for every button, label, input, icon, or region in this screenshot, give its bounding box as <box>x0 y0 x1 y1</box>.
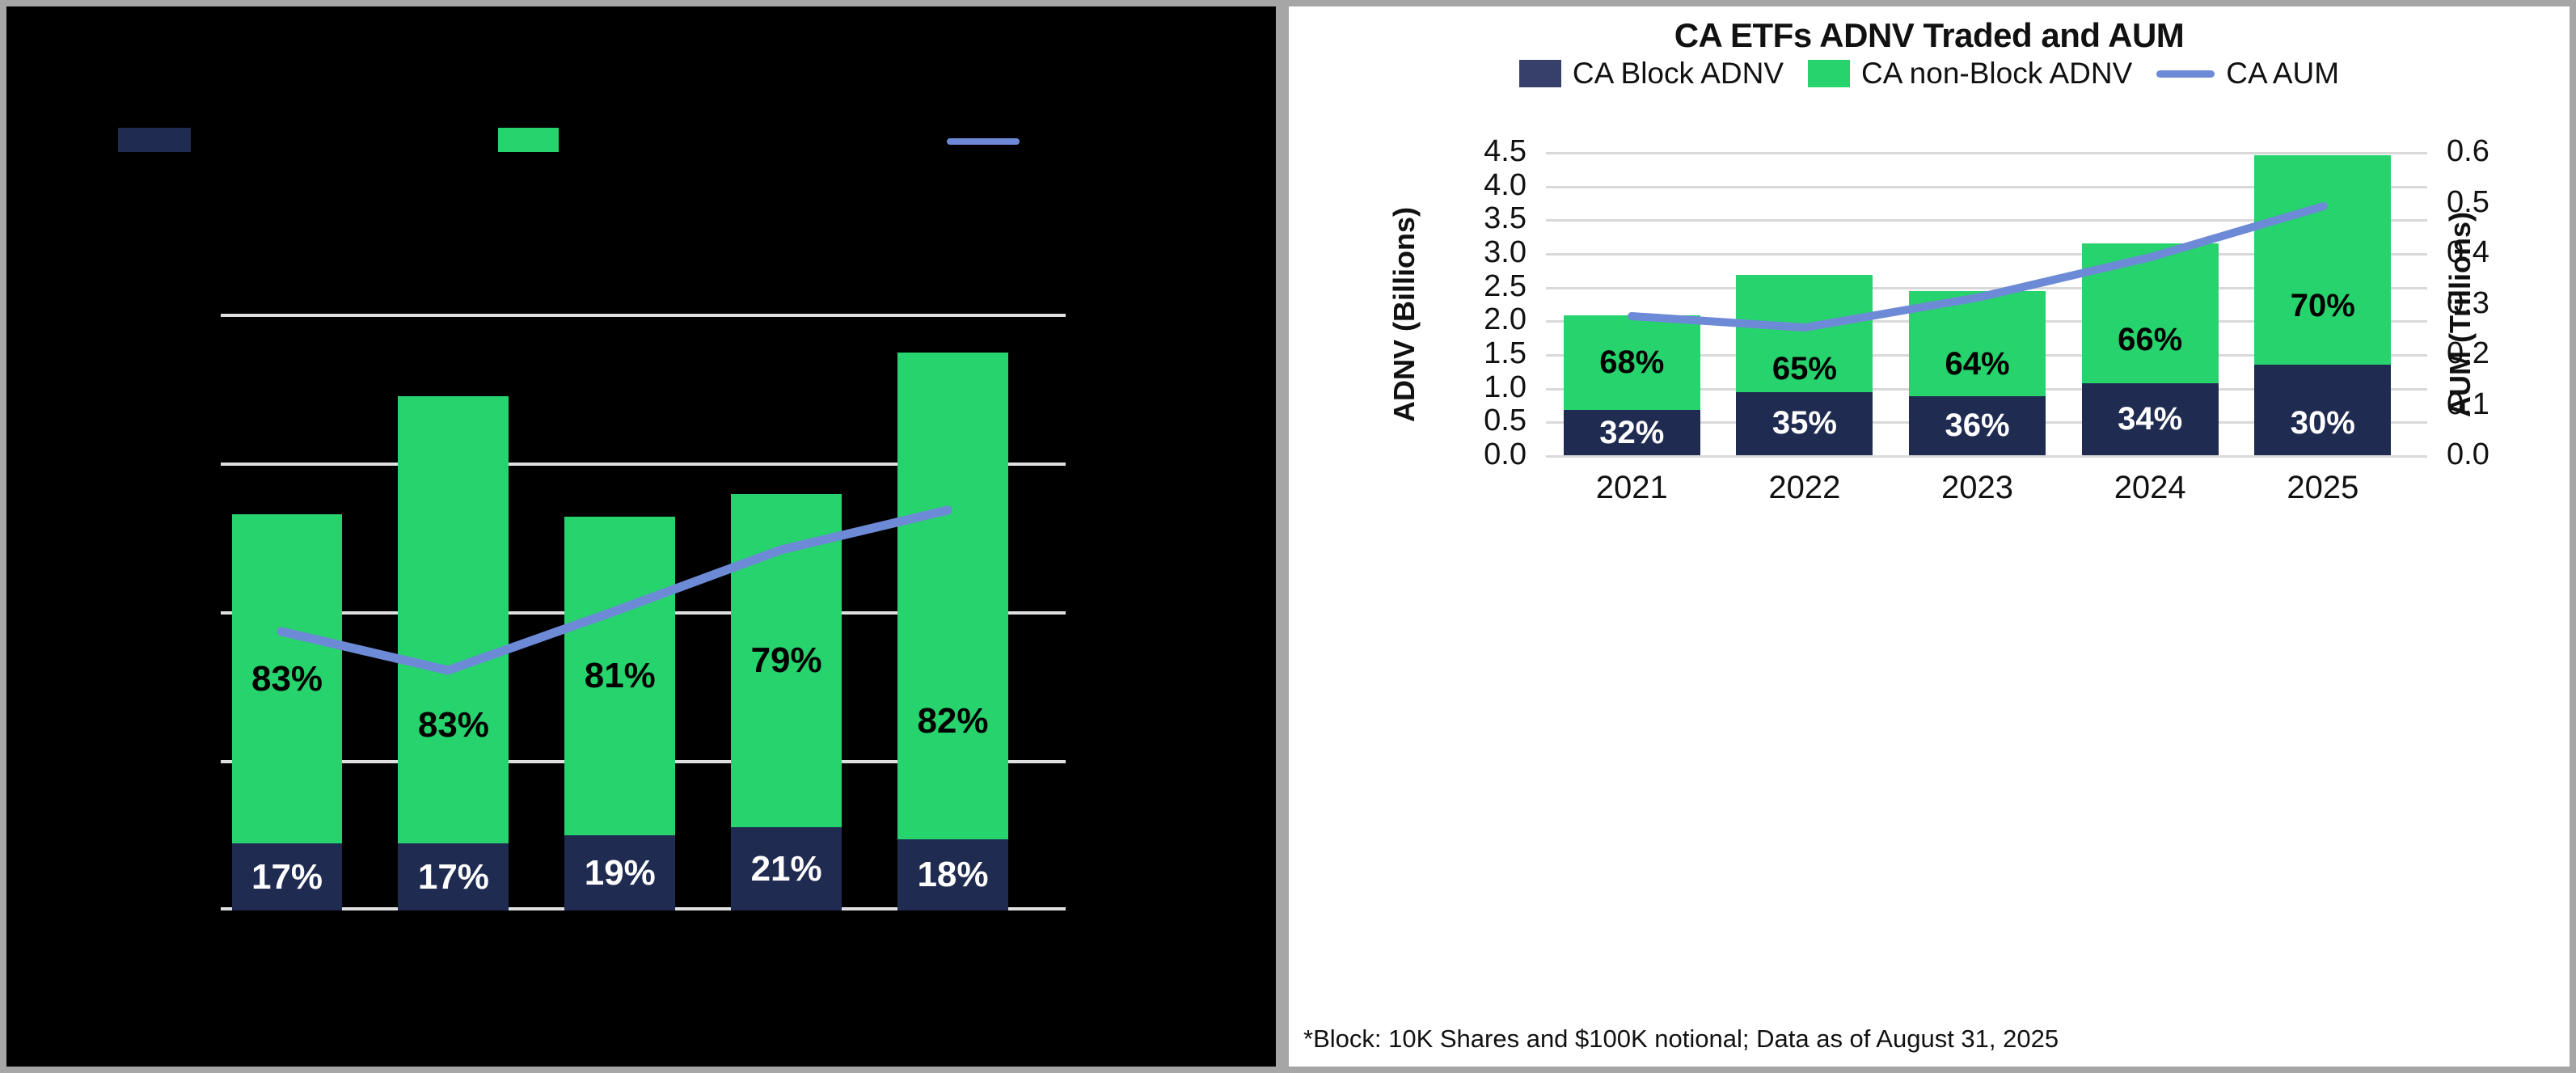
left-chart-plot-area: 17% 83% 17% 83% 19% 81% <box>221 314 1066 910</box>
y-tick-left: 1.5 <box>1484 336 1527 371</box>
right-chart-plot-area: 4.5 4.0 3.5 3.0 2.5 2.0 1.5 1.0 0.5 0.0 … <box>1546 152 2427 455</box>
y-tick-left: 1.0 <box>1484 370 1527 405</box>
y-tick-left: 3.0 <box>1484 235 1527 270</box>
legend-label-ca-block-adnv: CA Block ADNV <box>1573 57 1784 91</box>
y-tick-right: 0.6 <box>2447 134 2489 169</box>
y-tick-right: 0.4 <box>2447 235 2489 270</box>
legend-label-nonblock-adnv: US non-Block ADNV <box>567 126 831 158</box>
y-tick-right: 0.3 <box>2447 286 2489 321</box>
x-tick-2025: 2025 <box>2254 470 2391 506</box>
left-dark-chart-panel: US Block ADNV US non-Block ADNV US AUM 1… <box>6 6 1276 1067</box>
legend-swatch-ca-block-adnv <box>1519 60 1561 87</box>
y-tick-left: 0.0 <box>1484 437 1527 472</box>
y-tick-right: 0.0 <box>2447 437 2489 472</box>
x-tick-2021: 2021 <box>1564 470 1700 506</box>
gridline <box>1546 455 2427 458</box>
legend-label-ca-nonblock-adnv: CA non-Block ADNV <box>1861 57 2132 91</box>
chart-legend: CA Block ADNV CA non-Block ADNV CA AUM <box>1289 57 2570 91</box>
y-tick-left: 2.5 <box>1484 269 1527 304</box>
legend-item-ca-block-adnv[interactable]: CA Block ADNV <box>1519 57 1784 91</box>
legend-label-block-adnv: US Block ADNV <box>199 126 404 158</box>
legend-item-ca-nonblock-adnv[interactable]: CA non-Block ADNV <box>1808 57 2132 91</box>
x-tick-2023: 2023 <box>1909 470 2046 506</box>
y-tick-right: 0.5 <box>2447 185 2489 220</box>
y-tick-left: 4.5 <box>1484 134 1527 169</box>
legend-label-aum: US AUM <box>1028 126 1135 158</box>
y-tick-left: 3.5 <box>1484 201 1527 236</box>
legend-swatch-aum-line <box>947 138 1020 145</box>
legend-swatch-nonblock-adnv <box>498 128 559 152</box>
x-tick-2022: 2022 <box>1736 470 1873 506</box>
left-chart-aum-line <box>221 314 1066 910</box>
chart-footnote: *Block: 10K Shares and $100K notional; D… <box>1303 1024 2059 1054</box>
legend-swatch-block-adnv <box>118 128 191 152</box>
right-light-chart-panel: CA ETFs ADNV Traded and AUM CA Block ADN… <box>1289 6 2570 1067</box>
right-chart-aum-line <box>1546 152 2427 455</box>
screenshot-root: US Block ADNV US non-Block ADNV US AUM 1… <box>0 0 2576 1073</box>
legend-swatch-ca-nonblock-adnv <box>1808 60 1850 87</box>
legend-label-ca-aum: CA AUM <box>2226 57 2339 91</box>
y-tick-left: 2.0 <box>1484 302 1527 337</box>
legend-item-ca-aum[interactable]: CA AUM <box>2156 57 2339 91</box>
y-tick-right: 0.2 <box>2447 336 2489 371</box>
chart-title: CA ETFs ADNV Traded and AUM <box>1289 16 2570 55</box>
x-tick-2024: 2024 <box>2082 470 2219 506</box>
left-chart-legend: US Block ADNV US non-Block ADNV US AUM <box>6 128 1276 160</box>
y-tick-left: 0.5 <box>1484 403 1527 438</box>
legend-swatch-ca-aum-line <box>2156 70 2215 78</box>
y-axis-label-left: ADNV (Billions) <box>1387 141 1421 488</box>
y-tick-right: 0.1 <box>2447 387 2489 422</box>
y-tick-left: 4.0 <box>1484 168 1527 203</box>
